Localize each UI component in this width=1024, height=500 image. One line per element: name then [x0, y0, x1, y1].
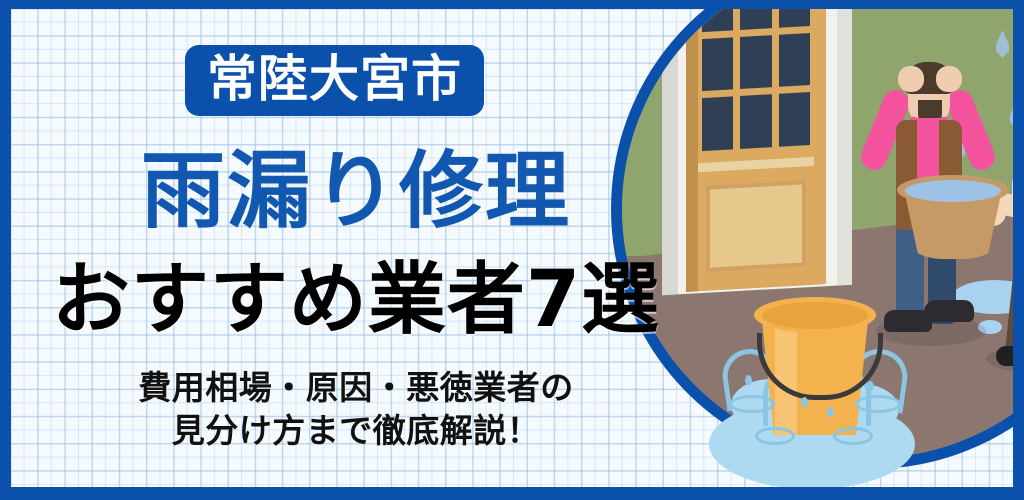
door-pane — [740, 35, 771, 90]
lead-text: 費用相場・原因・悪徳業者の 見分け方まで徹底解説！ — [11, 367, 701, 453]
shoe-left — [996, 346, 1013, 366]
door-pane — [702, 37, 733, 92]
water-drop-icon — [827, 407, 834, 417]
water-ripple — [855, 395, 901, 413]
door-pane — [702, 97, 733, 152]
water-ripple — [729, 395, 775, 413]
grid-paper-background: 常陸大宮市 雨漏り修理 おすすめ業者7選 費用相場・原因・悪徳業者の 見分け方ま… — [11, 9, 1013, 487]
water-ripple — [833, 427, 873, 445]
door-glass-grid — [702, 9, 810, 151]
water-drop-icon — [867, 381, 874, 391]
leg-left — [1005, 251, 1013, 360]
banner-canvas: 常陸大宮市 雨漏り修理 おすすめ業者7選 費用相場・原因・悪徳業者の 見分け方ま… — [0, 0, 1024, 500]
door-pane — [779, 33, 810, 88]
lead-line-2: 見分け方まで徹底解説！ — [11, 410, 701, 453]
carried-pail — [897, 175, 1009, 261]
door-frame-edge — [837, 9, 852, 286]
page-subtitle: おすすめ業者7選 — [11, 261, 701, 339]
door-pane — [740, 9, 771, 29]
hand-left — [898, 66, 924, 92]
lead-line-1: 費用相場・原因・悪徳業者の — [11, 367, 701, 410]
door-rail — [698, 157, 814, 172]
door-pane — [779, 9, 810, 27]
door-pane — [740, 94, 771, 149]
bucket-rim-inner — [762, 302, 868, 329]
page-title: 雨漏り修理 — [11, 149, 701, 233]
city-badge: 常陸大宮市 — [185, 45, 484, 116]
door-pane — [779, 92, 810, 147]
headline-column: 常陸大宮市 雨漏り修理 おすすめ業者7選 費用相場・原因・悪徳業者の 見分け方ま… — [11, 9, 701, 487]
pail-water — [905, 180, 1001, 202]
hand-right — [936, 66, 962, 92]
water-ripple — [755, 427, 795, 445]
wooden-door — [686, 9, 826, 292]
door-bottom-panel — [706, 180, 806, 272]
leaking-orange-bucket — [709, 289, 919, 487]
door-pane — [702, 9, 733, 32]
water-drop-icon — [745, 375, 752, 385]
water-drop-icon — [801, 397, 808, 407]
shoe-right — [924, 300, 974, 322]
